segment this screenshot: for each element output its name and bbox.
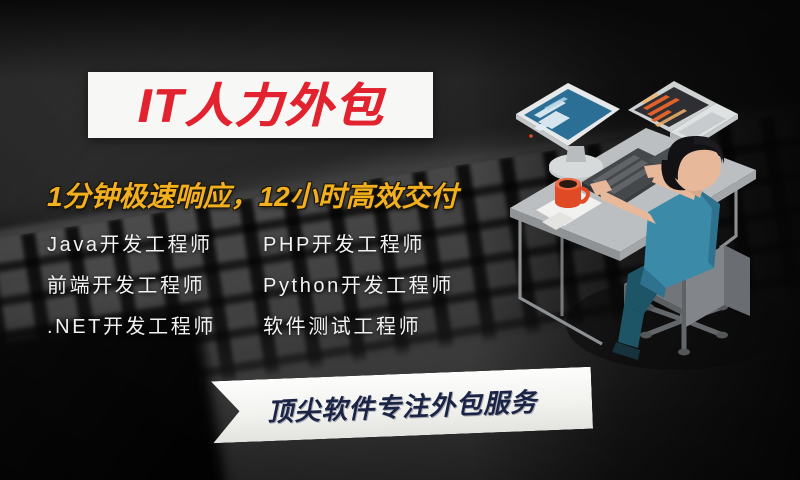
page-title: IT人力外包	[137, 82, 384, 129]
service-row: .NET开发工程师 软件测试工程师	[47, 304, 477, 345]
poster-canvas: IT人力外包 1分钟极速响应，12小时高效交付 Java开发工程师 PHP开发工…	[0, 0, 800, 480]
service-item: 软件测试工程师	[263, 310, 477, 339]
service-row: 前端开发工程师 Python开发工程师	[47, 263, 477, 304]
service-item: .NET开发工程师	[47, 310, 263, 339]
title-banner: IT人力外包	[88, 72, 433, 138]
service-item: Python开发工程师	[263, 269, 477, 298]
service-item: PHP开发工程师	[263, 228, 477, 257]
service-list: Java开发工程师 PHP开发工程师 前端开发工程师 Python开发工程师 .…	[47, 222, 477, 345]
service-item: Java开发工程师	[47, 228, 263, 257]
subtitle-slogan: 1分钟极速响应，12小时高效交付	[47, 175, 458, 215]
developer-illustration	[498, 62, 800, 392]
service-item: 前端开发工程师	[47, 269, 263, 298]
service-row: Java开发工程师 PHP开发工程师	[47, 222, 477, 263]
